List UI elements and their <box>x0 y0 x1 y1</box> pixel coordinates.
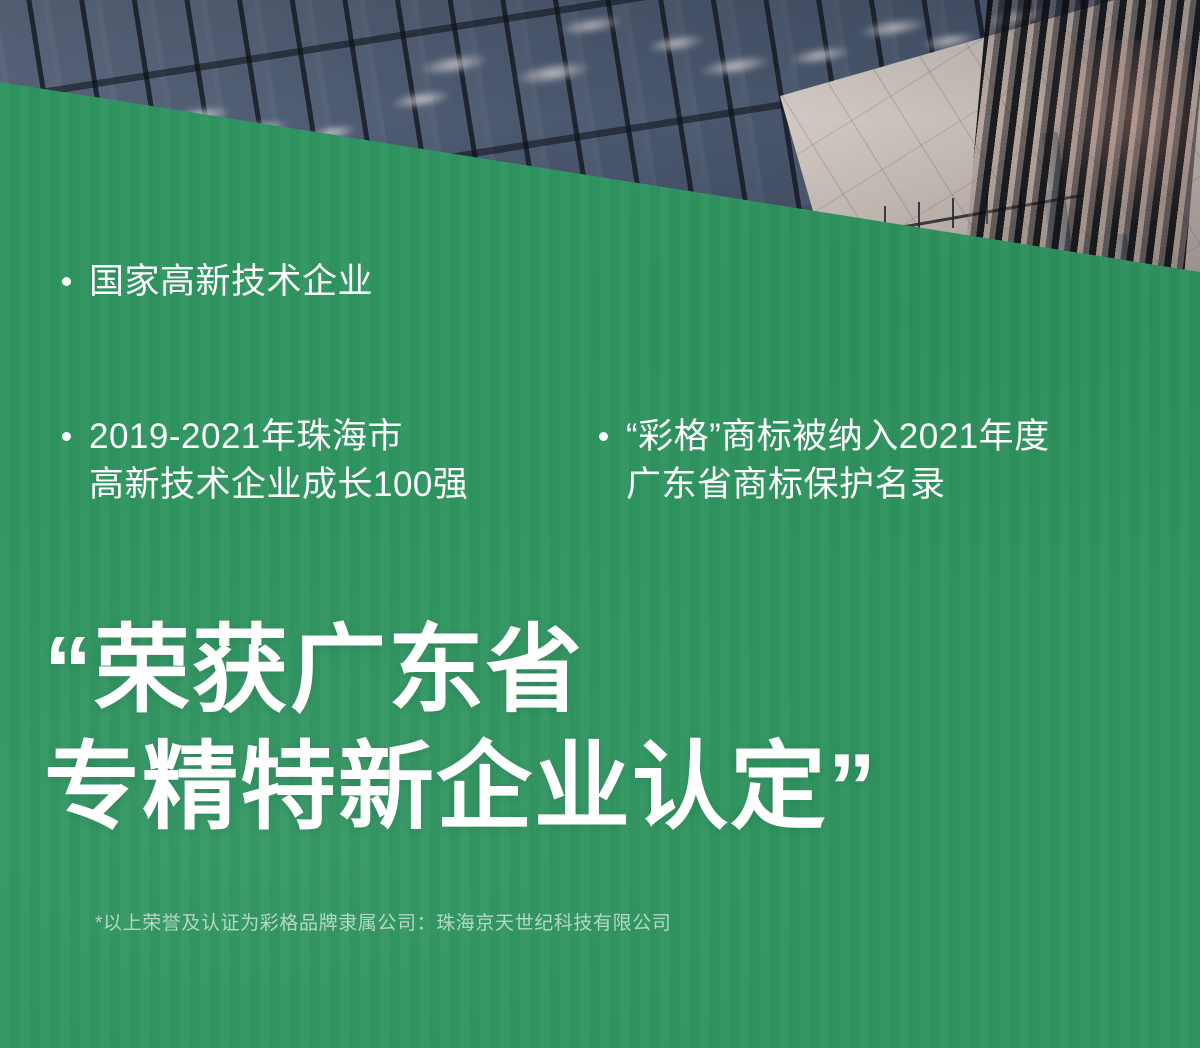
poster-content: 国家高新技术企业 2019-2021年珠海市 高新技术企业成长100强 “彩格”… <box>0 0 1200 1048</box>
footnote-disclaimer: *以上荣誉及认证为彩格品牌隶属公司：珠海京天世纪科技有限公司 <box>95 908 671 935</box>
bullet-dot-icon <box>62 277 71 286</box>
credential-item-zhuhai-top100: 2019-2021年珠海市 高新技术企业成长100强 <box>62 413 468 510</box>
credential-label: “彩格”商标被纳入2021年度 广东省商标保护名录 <box>626 413 1050 510</box>
bullet-dot-icon <box>62 432 71 441</box>
credential-item-trademark-protection: “彩格”商标被纳入2021年度 广东省商标保护名录 <box>599 413 1050 510</box>
credential-label: 2019-2021年珠海市 高新技术企业成长100强 <box>89 413 468 510</box>
headline-award-title: “荣获广东省 专精特新企业认定” <box>44 612 878 846</box>
award-credentials-poster: 国家高新技术企业 2019-2021年珠海市 高新技术企业成长100强 “彩格”… <box>0 0 1200 1048</box>
credential-label: 国家高新技术企业 <box>89 258 373 306</box>
bullet-dot-icon <box>599 432 608 441</box>
credential-item-national-high-tech: 国家高新技术企业 <box>62 258 373 306</box>
